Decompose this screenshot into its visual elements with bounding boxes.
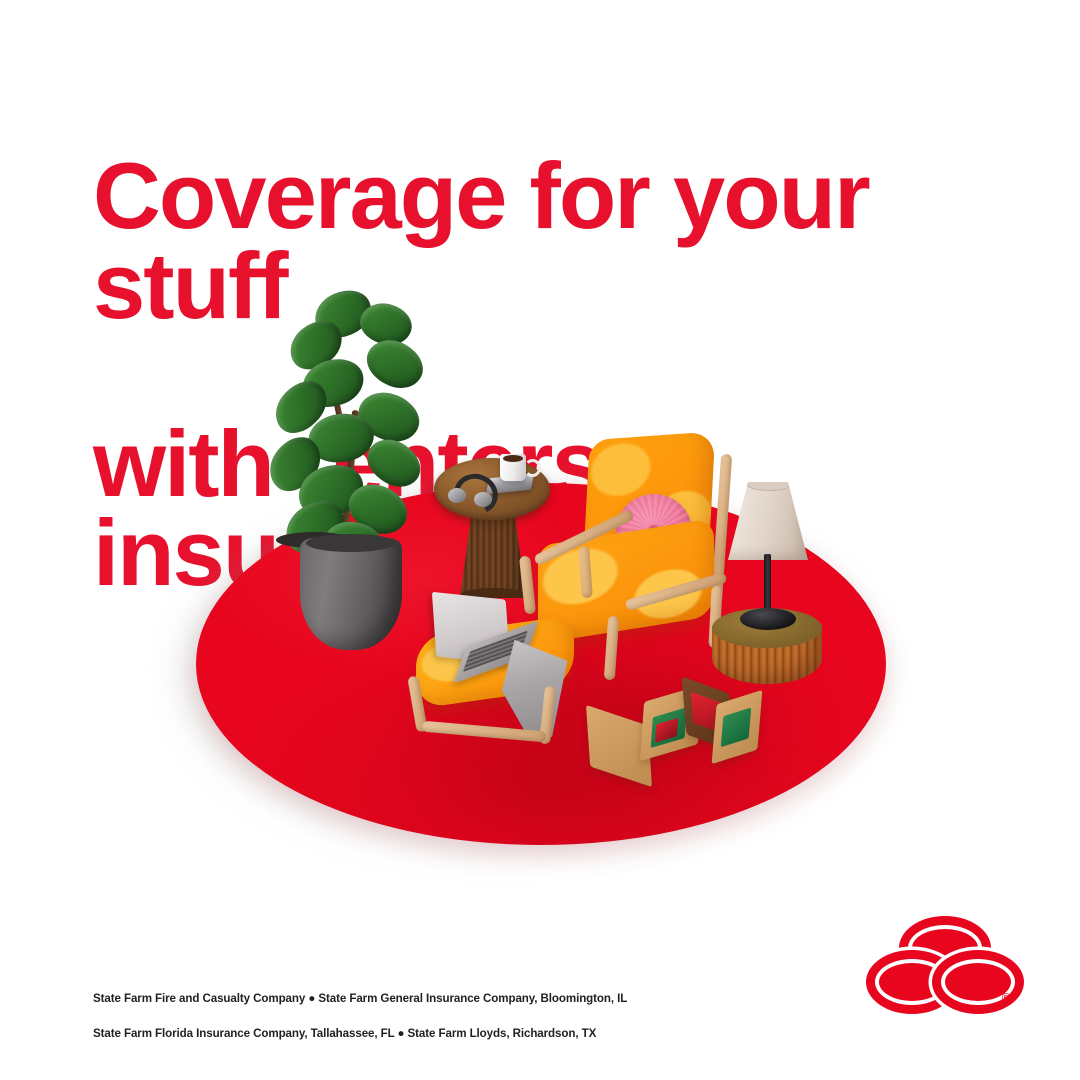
logo-oval-bottom-right xyxy=(932,950,1024,1014)
headphone-earcup-left xyxy=(448,488,466,503)
legal-line-1: State Farm Fire and Casualty Company ● S… xyxy=(93,990,627,1008)
legal-disclaimer: State Farm Fire and Casualty Company ● S… xyxy=(93,972,627,1060)
potted-rubber-plant xyxy=(262,290,442,650)
legal-line-2: State Farm Florida Insurance Company, Ta… xyxy=(93,1025,627,1043)
lamp-shade xyxy=(728,482,808,560)
headphones xyxy=(448,468,494,508)
registered-trademark-icon: ® xyxy=(1002,992,1010,1004)
table-lamp-and-drum-table xyxy=(712,482,822,694)
headphone-earcup-right xyxy=(474,492,492,507)
ottoman-with-laptop xyxy=(406,602,591,752)
plant-pot xyxy=(300,538,402,650)
state-farm-three-ovals-logo: ® xyxy=(866,916,1008,1008)
living-room-scene xyxy=(0,250,1080,910)
lamp-base xyxy=(740,608,796,630)
books-and-picture-frames xyxy=(588,680,758,790)
frame-green xyxy=(721,707,752,747)
ad-canvas: Coverage for your stuff with renters ins… xyxy=(0,0,1080,1080)
